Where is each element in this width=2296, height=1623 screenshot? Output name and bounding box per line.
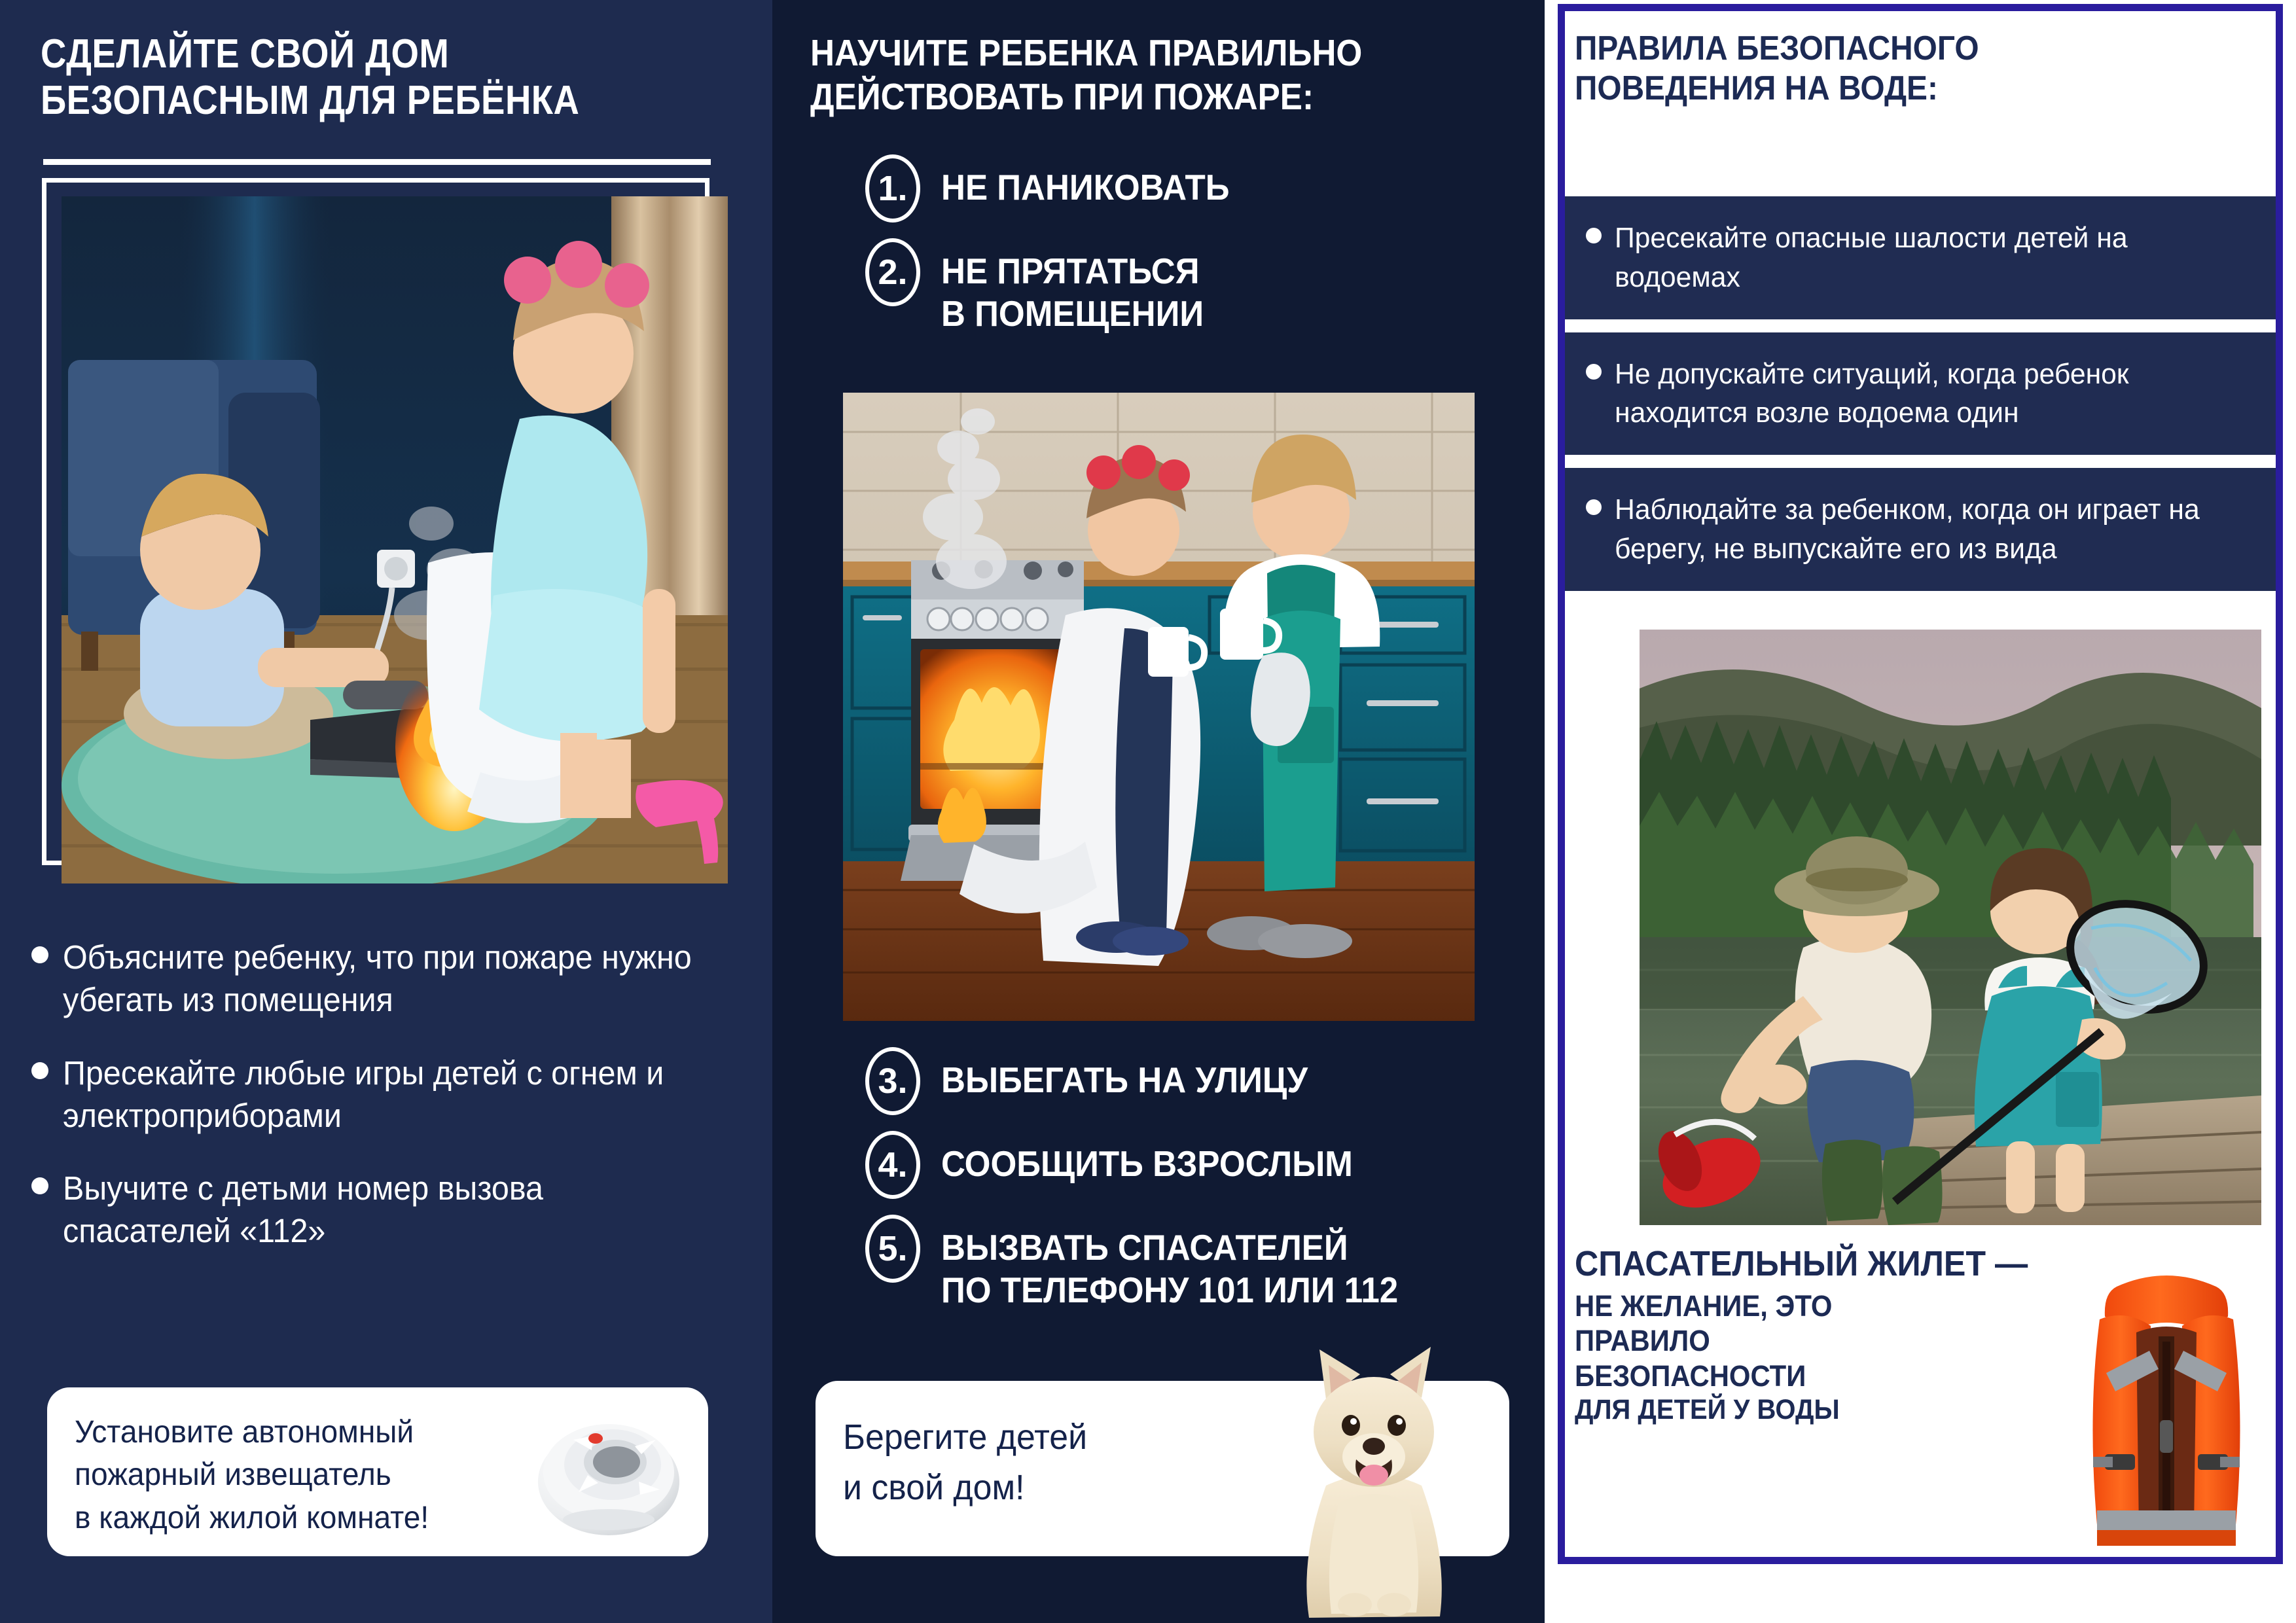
slogan-line-4: БЕЗОПАСНОСТИ: [1575, 1359, 2025, 1393]
protect-children-callout-text: Берегите детей и свой дом!: [843, 1412, 1245, 1512]
slogan-line-3: ПРАВИЛО: [1575, 1323, 2025, 1358]
right-column-header: ПРАВИЛА БЕЗОПАСНОГО ПОВЕДЕНИЯ НА ВОДЕ:: [1575, 29, 2213, 109]
left-title-line-2: БЕЗОПАСНЫМ ДЛЯ РЕБЁНКА: [41, 78, 651, 124]
protect-children-callout: Берегите детей и свой дом!: [816, 1381, 1509, 1556]
pomeranian-dog-icon: [1266, 1322, 1482, 1618]
callout-line-3: в каждой жилой комнате!: [75, 1497, 514, 1539]
right-bullet-text: Пресекайте опасные шалости детей на водо…: [1615, 219, 2237, 297]
left-bullet-text: Выучите с детьми номер вызова спасателей…: [63, 1167, 717, 1253]
right-header-line-1: ПРАВИЛА БЕЗОПАСНОГО: [1575, 29, 2213, 69]
smoke-detector-callout: Установите автономный пожарный извещател…: [47, 1387, 708, 1556]
right-bullet-list: Пресекайте опасные шалости детей на водо…: [1565, 196, 2276, 604]
slogan-line-1: СПАСАТЕЛЬНЫЙ ЖИЛЕТ —: [1575, 1245, 2025, 1283]
step-text: ВЫБЕГАТЬ НА УЛИЦУ: [941, 1059, 1308, 1101]
safety-poster: СДЕЛАЙТЕ СВОЙ ДОМ БЕЗОПАСНЫМ ДЛЯ РЕБЁНКА: [0, 0, 2296, 1623]
list-item: Не допускайте ситуаций, когда ребенок на…: [1565, 332, 2276, 455]
bullet-dot-icon: [1586, 499, 1602, 515]
left-bullet-list: Объясните ребенку, что при пожаре нужно …: [12, 936, 751, 1283]
step-text: ВЫЗВАТЬ СПАСАТЕЛЕЙ ПО ТЕЛЕФОНУ 101 ИЛИ 1…: [941, 1226, 1398, 1311]
photo-iron-fire: [62, 196, 728, 883]
callout-line-1: Установите автономный: [75, 1411, 514, 1454]
step-number-badge: 5.: [865, 1215, 920, 1283]
right-bullet-text: Не допускайте ситуаций, когда ребенок на…: [1615, 355, 2237, 433]
middle-title-line-2: ДЕЙСТВОВАТЬ ПРИ ПОЖАРЕ:: [810, 75, 1452, 119]
bullet-dot-icon: [1586, 228, 1602, 243]
list-item: 5. ВЫЗВАТЬ СПАСАТЕЛЕЙ ПО ТЕЛЕФОНУ 101 ИЛ…: [772, 1215, 1545, 1311]
title-underline-rule: [43, 159, 711, 165]
bullet-dot-icon: [31, 1177, 48, 1194]
photo-lake-dock-children: [1640, 630, 2261, 1225]
step-number-badge: 4.: [865, 1131, 920, 1199]
smoke-detector-icon: [535, 1404, 686, 1539]
callout-line-2: и свой дом!: [843, 1463, 1245, 1513]
left-bullet-text: Объясните ребенку, что при пожаре нужно …: [63, 936, 717, 1022]
step-text: СООБЩИТЬ ВЗРОСЛЫМ: [941, 1143, 1353, 1185]
slogan-line-2: НЕ ЖЕЛАНИЕ, ЭТО: [1575, 1289, 2025, 1323]
list-item: Выучите с детьми номер вызова спасателей…: [12, 1167, 751, 1253]
middle-column-title: НАУЧИТЕ РЕБЕНКА ПРАВИЛЬНО ДЕЙСТВОВАТЬ ПР…: [810, 31, 1452, 118]
right-bullet-text: Наблюдайте за ребенком, когда он играет …: [1615, 490, 2237, 569]
right-header-line-2: ПОВЕДЕНИЯ НА ВОДЕ:: [1575, 69, 2213, 109]
step-text-line-1: ВЫЗВАТЬ СПАСАТЕЛЕЙ: [941, 1226, 1398, 1269]
middle-column-fire-actions: НАУЧИТЕ РЕБЕНКА ПРАВИЛЬНО ДЕЙСТВОВАТЬ ПР…: [772, 0, 1545, 1623]
bullet-dot-icon: [31, 1062, 48, 1079]
bullet-dot-icon: [31, 946, 48, 963]
bullet-dot-icon: [1586, 364, 1602, 380]
life-jacket-icon: [2068, 1263, 2265, 1551]
step-number-badge: 3.: [865, 1047, 920, 1115]
callout-line-2: пожарный извещатель: [75, 1454, 514, 1496]
left-title-line-1: СДЕЛАЙТЕ СВОЙ ДОМ: [41, 31, 651, 78]
smoke-detector-callout-text: Установите автономный пожарный извещател…: [75, 1411, 514, 1539]
list-item: Пресекайте любые игры детей с огнем и эл…: [12, 1052, 751, 1137]
step-number-badge: 1.: [865, 154, 920, 223]
step-text: НЕ ПАНИКОВАТЬ: [941, 166, 1229, 209]
right-column-water-safety: ПРАВИЛА БЕЗОПАСНОГО ПОВЕДЕНИЯ НА ВОДЕ: П…: [1545, 0, 2296, 1623]
list-item: Пресекайте опасные шалости детей на водо…: [1565, 196, 2276, 319]
list-item: 4. СООБЩИТЬ ВЗРОСЛЫМ: [772, 1131, 1545, 1199]
step-text: НЕ ПРЯТАТЬСЯ В ПОМЕЩЕНИИ: [941, 250, 1204, 335]
left-bullet-text: Пресекайте любые игры детей с огнем и эл…: [63, 1052, 717, 1137]
step-text-line-1: НЕ ПРЯТАТЬСЯ: [941, 250, 1204, 293]
middle-steps-bottom: 3. ВЫБЕГАТЬ НА УЛИЦУ 4. СООБЩИТЬ ВЗРОСЛЫ…: [772, 1047, 1545, 1327]
left-column-home-safety: СДЕЛАЙТЕ СВОЙ ДОМ БЕЗОПАСНЫМ ДЛЯ РЕБЁНКА: [0, 0, 772, 1623]
list-item: 2. НЕ ПРЯТАТЬСЯ В ПОМЕЩЕНИИ: [772, 238, 1545, 335]
middle-steps-top: 1. НЕ ПАНИКОВАТЬ 2. НЕ ПРЯТАТЬСЯ В ПОМЕЩ…: [772, 154, 1545, 351]
callout-line-1: Берегите детей: [843, 1412, 1245, 1463]
slogan-line-5: ДЛЯ ДЕТЕЙ У ВОДЫ: [1575, 1393, 2025, 1427]
list-item: 1. НЕ ПАНИКОВАТЬ: [772, 154, 1545, 223]
list-item: 3. ВЫБЕГАТЬ НА УЛИЦУ: [772, 1047, 1545, 1115]
step-number-badge: 2.: [865, 238, 920, 306]
left-column-title: СДЕЛАЙТЕ СВОЙ ДОМ БЕЗОПАСНЫМ ДЛЯ РЕБЁНКА: [41, 31, 651, 124]
life-jacket-slogan: СПАСАТЕЛЬНЫЙ ЖИЛЕТ — НЕ ЖЕЛАНИЕ, ЭТО ПРА…: [1575, 1245, 2059, 1426]
list-item: Объясните ребенку, что при пожаре нужно …: [12, 936, 751, 1022]
middle-title-line-1: НАУЧИТЕ РЕБЕНКА ПРАВИЛЬНО: [810, 31, 1452, 75]
photo-kitchen-oven-fire: [843, 393, 1475, 1021]
step-text-line-2: ПО ТЕЛЕФОНУ 101 ИЛИ 112: [941, 1269, 1398, 1311]
list-item: Наблюдайте за ребенком, когда он играет …: [1565, 468, 2276, 591]
step-text-line-2: В ПОМЕЩЕНИИ: [941, 293, 1204, 335]
